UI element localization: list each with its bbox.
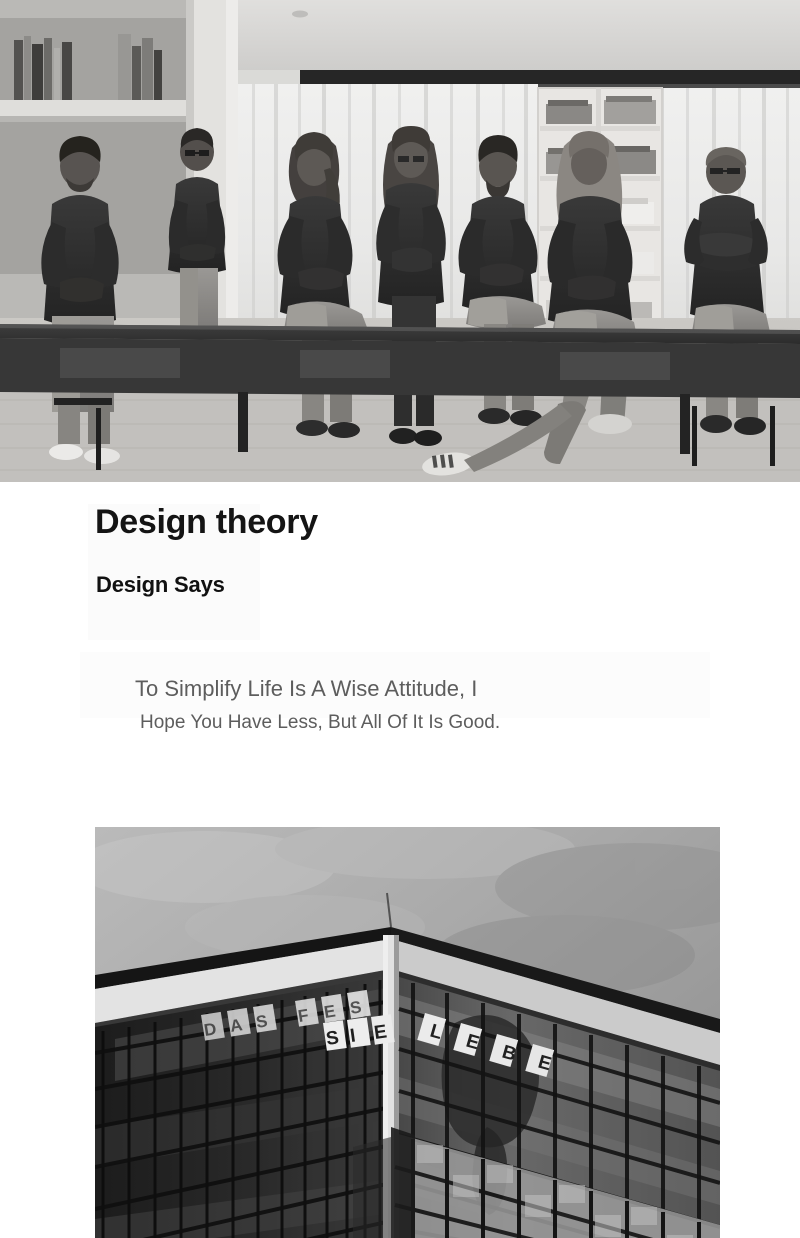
design-quote: To Simplify Life Is A Wise Attitude, I H… [135, 674, 775, 736]
team-group-photo-graphic [0, 0, 800, 482]
page-title: Design theory [95, 500, 318, 544]
section-subtitle: Design Says [96, 570, 225, 600]
bauhaus-building-photo: D A S F E S [95, 827, 720, 1238]
quote-line-2: Hope You Have Less, But All Of It Is Goo… [140, 710, 775, 736]
bauhaus-building-graphic: D A S F E S [95, 827, 720, 1238]
quote-line-1: To Simplify Life Is A Wise Attitude, I [135, 674, 775, 704]
article-text-section: Design theory Design Says To Simplify Li… [0, 482, 800, 827]
team-group-photo [0, 0, 800, 482]
